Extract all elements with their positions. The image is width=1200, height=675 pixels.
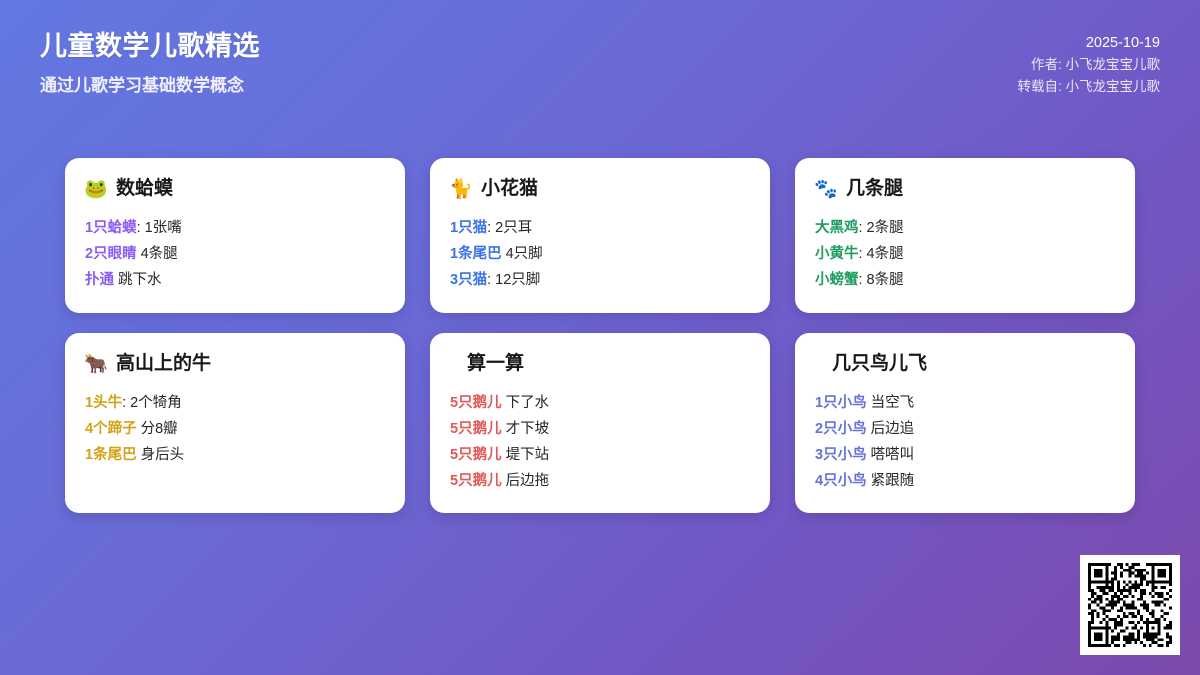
lyric-line: 3只小鸟 嗒嗒叫 <box>815 442 1115 468</box>
lyric-rest: 嗒嗒叫 <box>867 447 915 463</box>
card-header: 算一算 <box>450 353 750 375</box>
lyric-highlight: 扑通 <box>85 272 114 288</box>
card-lyric-lines: 1只猫: 2只耳1条尾巴 4只脚3只猫: 12只脚 <box>450 215 750 293</box>
lyric-line: 4个蹄子 分8瓣 <box>85 416 385 442</box>
lyric-line: 1条尾巴 4只脚 <box>450 241 750 267</box>
lyric-highlight: 3只小鸟 <box>815 447 867 463</box>
frog-icon: 🐸 <box>85 178 107 200</box>
page-subtitle: 通过儿歌学习基础数学概念 <box>40 75 260 97</box>
lyric-line: 2只小鸟 后边追 <box>815 416 1115 442</box>
lyric-highlight: 大黑鸡 <box>815 220 859 236</box>
lyric-highlight: 4个蹄子 <box>85 421 137 437</box>
lyric-rest: 后边拖 <box>502 473 550 489</box>
lyric-rest: 身后头 <box>137 447 185 463</box>
lyric-rest: : 12只脚 <box>487 272 540 288</box>
lyric-line: 5只鹅儿 才下坡 <box>450 416 750 442</box>
lyric-highlight: 3只猫 <box>450 272 487 288</box>
lyric-line: 大黑鸡: 2条腿 <box>815 215 1115 241</box>
card-suan-yi-suan[interactable]: 算一算5只鹅儿 下了水5只鹅儿 才下坡5只鹅儿 堤下站5只鹅儿 后边拖 <box>430 333 770 513</box>
lyric-line: 3只猫: 12只脚 <box>450 267 750 293</box>
paw-print-icon: 🐾 <box>815 178 837 200</box>
lyric-rest: : 2条腿 <box>859 220 904 236</box>
lyric-line: 1只蛤蟆: 1张嘴 <box>85 215 385 241</box>
page-header: 儿童数学儿歌精选 通过儿歌学习基础数学概念 2025-10-19 作者: 小飞龙… <box>0 0 1200 140</box>
lyric-line: 1条尾巴 身后头 <box>85 442 385 468</box>
publish-date: 2025-10-19 <box>1017 32 1160 54</box>
qr-code-image <box>1088 563 1172 647</box>
card-gao-shan-shang-de-niu[interactable]: 🐂高山上的牛1头牛: 2个犄角4个蹄子 分8瓣1条尾巴 身后头 <box>65 333 405 513</box>
card-title: 小花猫 <box>481 179 538 200</box>
card-title: 几条腿 <box>846 179 903 200</box>
lyric-rest: 4条腿 <box>137 246 178 262</box>
lyric-line: 5只鹅儿 下了水 <box>450 390 750 416</box>
lyric-line: 1只小鸟 当空飞 <box>815 390 1115 416</box>
card-lyric-lines: 1只小鸟 当空飞2只小鸟 后边追3只小鸟 嗒嗒叫4只小鸟 紧跟随 <box>815 390 1115 494</box>
lyric-line: 5只鹅儿 后边拖 <box>450 468 750 494</box>
lyric-highlight: 5只鹅儿 <box>450 447 502 463</box>
lyric-rest: 4只脚 <box>502 246 543 262</box>
card-shu-ha-ma[interactable]: 🐸数蛤蟆1只蛤蟆: 1张嘴2只眼睛 4条腿扑通 跳下水 <box>65 158 405 313</box>
card-header: 🐈小花猫 <box>450 178 750 200</box>
lyric-highlight: 4只小鸟 <box>815 473 867 489</box>
lyric-highlight: 1条尾巴 <box>85 447 137 463</box>
lyric-line: 小黄牛: 4条腿 <box>815 241 1115 267</box>
lyric-rest: : 4条腿 <box>859 246 904 262</box>
no-icon <box>450 353 458 375</box>
card-header: 🐾几条腿 <box>815 178 1115 200</box>
page-title: 儿童数学儿歌精选 <box>40 30 260 64</box>
card-lyric-lines: 1头牛: 2个犄角4个蹄子 分8瓣1条尾巴 身后头 <box>85 390 385 468</box>
lyric-highlight: 5只鹅儿 <box>450 395 502 411</box>
lyric-rest: : 2只耳 <box>487 220 532 236</box>
header-meta-block: 2025-10-19 作者: 小飞龙宝宝儿歌 转载自: 小飞龙宝宝儿歌 <box>1017 32 1160 98</box>
lyric-highlight: 1头牛 <box>85 395 122 411</box>
lyric-highlight: 1只猫 <box>450 220 487 236</box>
repost-source-label: 转载自: 小飞龙宝宝儿歌 <box>1017 76 1160 98</box>
lyric-rest: 下了水 <box>502 395 550 411</box>
ox-icon: 🐂 <box>85 353 107 375</box>
lyric-highlight: 5只鹅儿 <box>450 421 502 437</box>
lyric-highlight: 小黄牛 <box>815 246 859 262</box>
card-header: 几只鸟儿飞 <box>815 353 1115 375</box>
lyric-line: 1头牛: 2个犄角 <box>85 390 385 416</box>
lyric-line: 1只猫: 2只耳 <box>450 215 750 241</box>
lyric-line: 小螃蟹: 8条腿 <box>815 267 1115 293</box>
lyric-rest: : 8条腿 <box>859 272 904 288</box>
lyric-rest: 才下坡 <box>502 421 550 437</box>
lyric-rest: 跳下水 <box>114 272 162 288</box>
lyric-highlight: 5只鹅儿 <box>450 473 502 489</box>
lyric-line: 扑通 跳下水 <box>85 267 385 293</box>
lyric-highlight: 1只小鸟 <box>815 395 867 411</box>
lyric-line: 5只鹅儿 堤下站 <box>450 442 750 468</box>
card-lyric-lines: 大黑鸡: 2条腿小黄牛: 4条腿小螃蟹: 8条腿 <box>815 215 1115 293</box>
author-label: 作者: 小飞龙宝宝儿歌 <box>1017 54 1160 76</box>
card-xiao-hua-mao[interactable]: 🐈小花猫1只猫: 2只耳1条尾巴 4只脚3只猫: 12只脚 <box>430 158 770 313</box>
lyric-line: 2只眼睛 4条腿 <box>85 241 385 267</box>
lyric-highlight: 2只眼睛 <box>85 246 137 262</box>
cat-icon: 🐈 <box>450 178 472 200</box>
lyric-rest: : 2个犄角 <box>122 395 182 411</box>
qr-code[interactable] <box>1080 555 1180 655</box>
card-header: 🐂高山上的牛 <box>85 353 385 375</box>
lyric-highlight: 2只小鸟 <box>815 421 867 437</box>
card-title: 数蛤蟆 <box>116 179 173 200</box>
card-title: 几只鸟儿飞 <box>832 354 927 375</box>
card-lyric-lines: 1只蛤蟆: 1张嘴2只眼睛 4条腿扑通 跳下水 <box>85 215 385 293</box>
no-icon <box>815 353 823 375</box>
lyric-rest: 后边追 <box>867 421 915 437</box>
lyric-rest: 当空飞 <box>867 395 915 411</box>
lyric-line: 4只小鸟 紧跟随 <box>815 468 1115 494</box>
card-ji-zhi-niao-er-fei[interactable]: 几只鸟儿飞1只小鸟 当空飞2只小鸟 后边追3只小鸟 嗒嗒叫4只小鸟 紧跟随 <box>795 333 1135 513</box>
lyric-highlight: 1只蛤蟆 <box>85 220 137 236</box>
card-title: 算一算 <box>467 354 524 375</box>
lyric-rest: : 1张嘴 <box>137 220 182 236</box>
lyric-rest: 紧跟随 <box>867 473 915 489</box>
song-card-grid: 🐸数蛤蟆1只蛤蟆: 1张嘴2只眼睛 4条腿扑通 跳下水🐈小花猫1只猫: 2只耳1… <box>65 158 1140 513</box>
card-header: 🐸数蛤蟆 <box>85 178 385 200</box>
card-ji-tiao-tui[interactable]: 🐾几条腿大黑鸡: 2条腿小黄牛: 4条腿小螃蟹: 8条腿 <box>795 158 1135 313</box>
card-lyric-lines: 5只鹅儿 下了水5只鹅儿 才下坡5只鹅儿 堤下站5只鹅儿 后边拖 <box>450 390 750 494</box>
lyric-highlight: 小螃蟹 <box>815 272 859 288</box>
card-title: 高山上的牛 <box>116 354 211 375</box>
lyric-highlight: 1条尾巴 <box>450 246 502 262</box>
lyric-rest: 分8瓣 <box>137 421 178 437</box>
lyric-rest: 堤下站 <box>502 447 550 463</box>
header-title-block: 儿童数学儿歌精选 通过儿歌学习基础数学概念 <box>40 30 260 97</box>
